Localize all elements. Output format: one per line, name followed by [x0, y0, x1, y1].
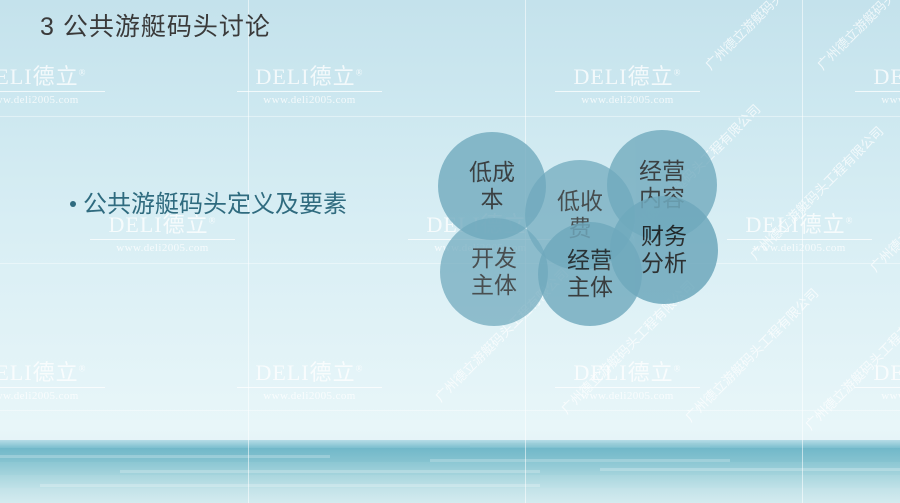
venn-circle-label: 开发 主体: [471, 245, 517, 299]
venn-circle-label: 经营 主体: [567, 247, 613, 301]
venn-circle: 财务 分析: [610, 196, 718, 304]
venn-circle: 开发 主体: [440, 218, 548, 326]
venn-diagram: 低成 本低收 费经营 内容开发 主体经营 主体财务 分析: [0, 0, 900, 503]
venn-circle-label: 财务 分析: [641, 223, 687, 277]
venn-circle-label: 低成 本: [469, 159, 515, 213]
slide-canvas: DELI德立® www.deli2005.com DELI德立® www.del…: [0, 0, 900, 503]
